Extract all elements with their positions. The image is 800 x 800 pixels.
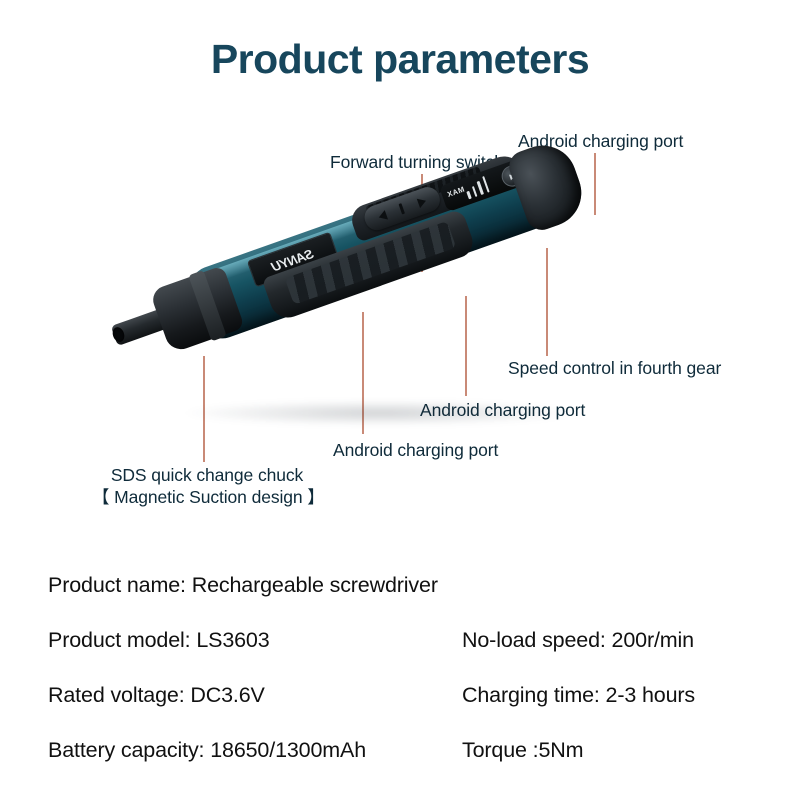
spec-no-load-speed: No-load speed: 200r/min (462, 628, 694, 653)
callout-sds-quick-change-chuck: SDS quick change chuck 【 Magnetic Suctio… (92, 465, 322, 509)
callout-speed-control-fourth-gear: Speed control in fourth gear (508, 358, 721, 380)
spec-charging-time: Charging time: 2-3 hours (462, 683, 695, 708)
spec-battery-capacity: Battery capacity: 18650/1300mAh (48, 738, 366, 763)
led-bar (482, 176, 490, 193)
callout-sds-line-2: 【 Magnetic Suction design 】 (92, 487, 322, 509)
led-bar (471, 186, 477, 197)
led-bar (466, 191, 471, 199)
neutral-bar-icon (399, 203, 405, 214)
max-label: MAX (446, 185, 466, 199)
callout-android-charging-port-lower: Android charging port (333, 440, 498, 462)
spec-product-model: Product model: LS3603 (48, 628, 270, 653)
product-parameters-page: Product parameters Forward turning switc… (0, 0, 800, 800)
led-level-bars (463, 176, 489, 199)
forward-arrow-icon (417, 196, 428, 208)
callout-sds-line-1: SDS quick change chuck (92, 465, 322, 487)
specification-list: Product name: Rechargeable screwdriver P… (0, 545, 800, 795)
spec-rated-voltage: Rated voltage: DC3.6V (48, 683, 265, 708)
led-bar (477, 181, 484, 195)
spec-torque: Torque :5Nm (462, 738, 583, 763)
spec-product-name: Product name: Rechargeable screwdriver (48, 573, 438, 598)
product-diagram: Forward turning switch Android charging … (0, 100, 800, 520)
page-title: Product parameters (0, 36, 800, 83)
reverse-arrow-icon (377, 210, 388, 222)
